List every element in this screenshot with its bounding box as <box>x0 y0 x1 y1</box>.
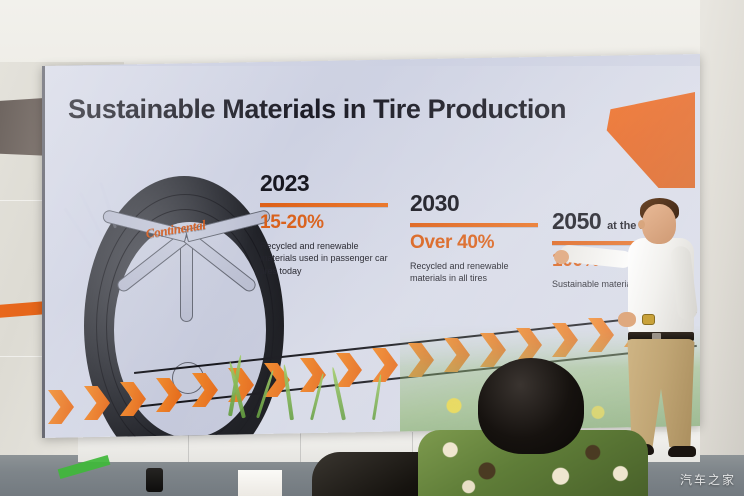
board-title: Sustainable Materials in Tire Production <box>68 94 566 125</box>
presenter-shoe <box>668 446 696 457</box>
presenter-right-hand <box>618 312 636 327</box>
chevron-arrow <box>48 390 74 424</box>
presenter-belt-buckle <box>652 333 661 340</box>
chevron-arrow <box>120 382 146 416</box>
chevron-arrow <box>156 378 182 412</box>
base-seam <box>188 432 189 462</box>
grass-blade <box>331 367 346 421</box>
watermark: 汽车之家 <box>680 471 736 488</box>
chevron-arrow <box>192 373 218 407</box>
base-seam <box>300 432 301 462</box>
stat-headline: Over 40% <box>410 232 538 254</box>
presenter-head <box>642 204 676 244</box>
tire-tread-line <box>79 192 103 236</box>
grass-blade <box>282 364 294 420</box>
floor-device <box>146 468 163 492</box>
presenter-ear <box>638 220 645 229</box>
presentation-scene: Sustainable Materials in Tire Production… <box>0 0 744 496</box>
stat-block-2023: 2023 15-20% Recycled and renewable mater… <box>260 170 388 277</box>
orange-corner-flag-shape <box>599 92 695 188</box>
presentation-board: Sustainable Materials in Tire Production… <box>42 54 700 438</box>
floor-white-card <box>238 470 282 496</box>
stat-block-2030: 2030 Over 40% Recycled and renewable mat… <box>410 190 538 285</box>
chevron-arrow-band <box>42 302 700 437</box>
stat-year: 2023 <box>260 170 388 197</box>
presenter-trousers <box>626 339 696 447</box>
chevron-arrow <box>84 386 110 420</box>
stat-headline: 15-20% <box>260 212 388 234</box>
presenter-left-hand <box>554 250 569 264</box>
stat-description: Recycled and renewable materials used in… <box>260 240 388 277</box>
stat-rule <box>260 203 388 207</box>
stat-rule <box>410 223 538 227</box>
audience-head <box>478 358 584 454</box>
presenter-person <box>612 196 724 464</box>
stat-year: 2030 <box>410 190 538 217</box>
presenter-wristwatch <box>642 314 655 325</box>
stat-description: Recycled and renewable materials in all … <box>410 260 538 285</box>
